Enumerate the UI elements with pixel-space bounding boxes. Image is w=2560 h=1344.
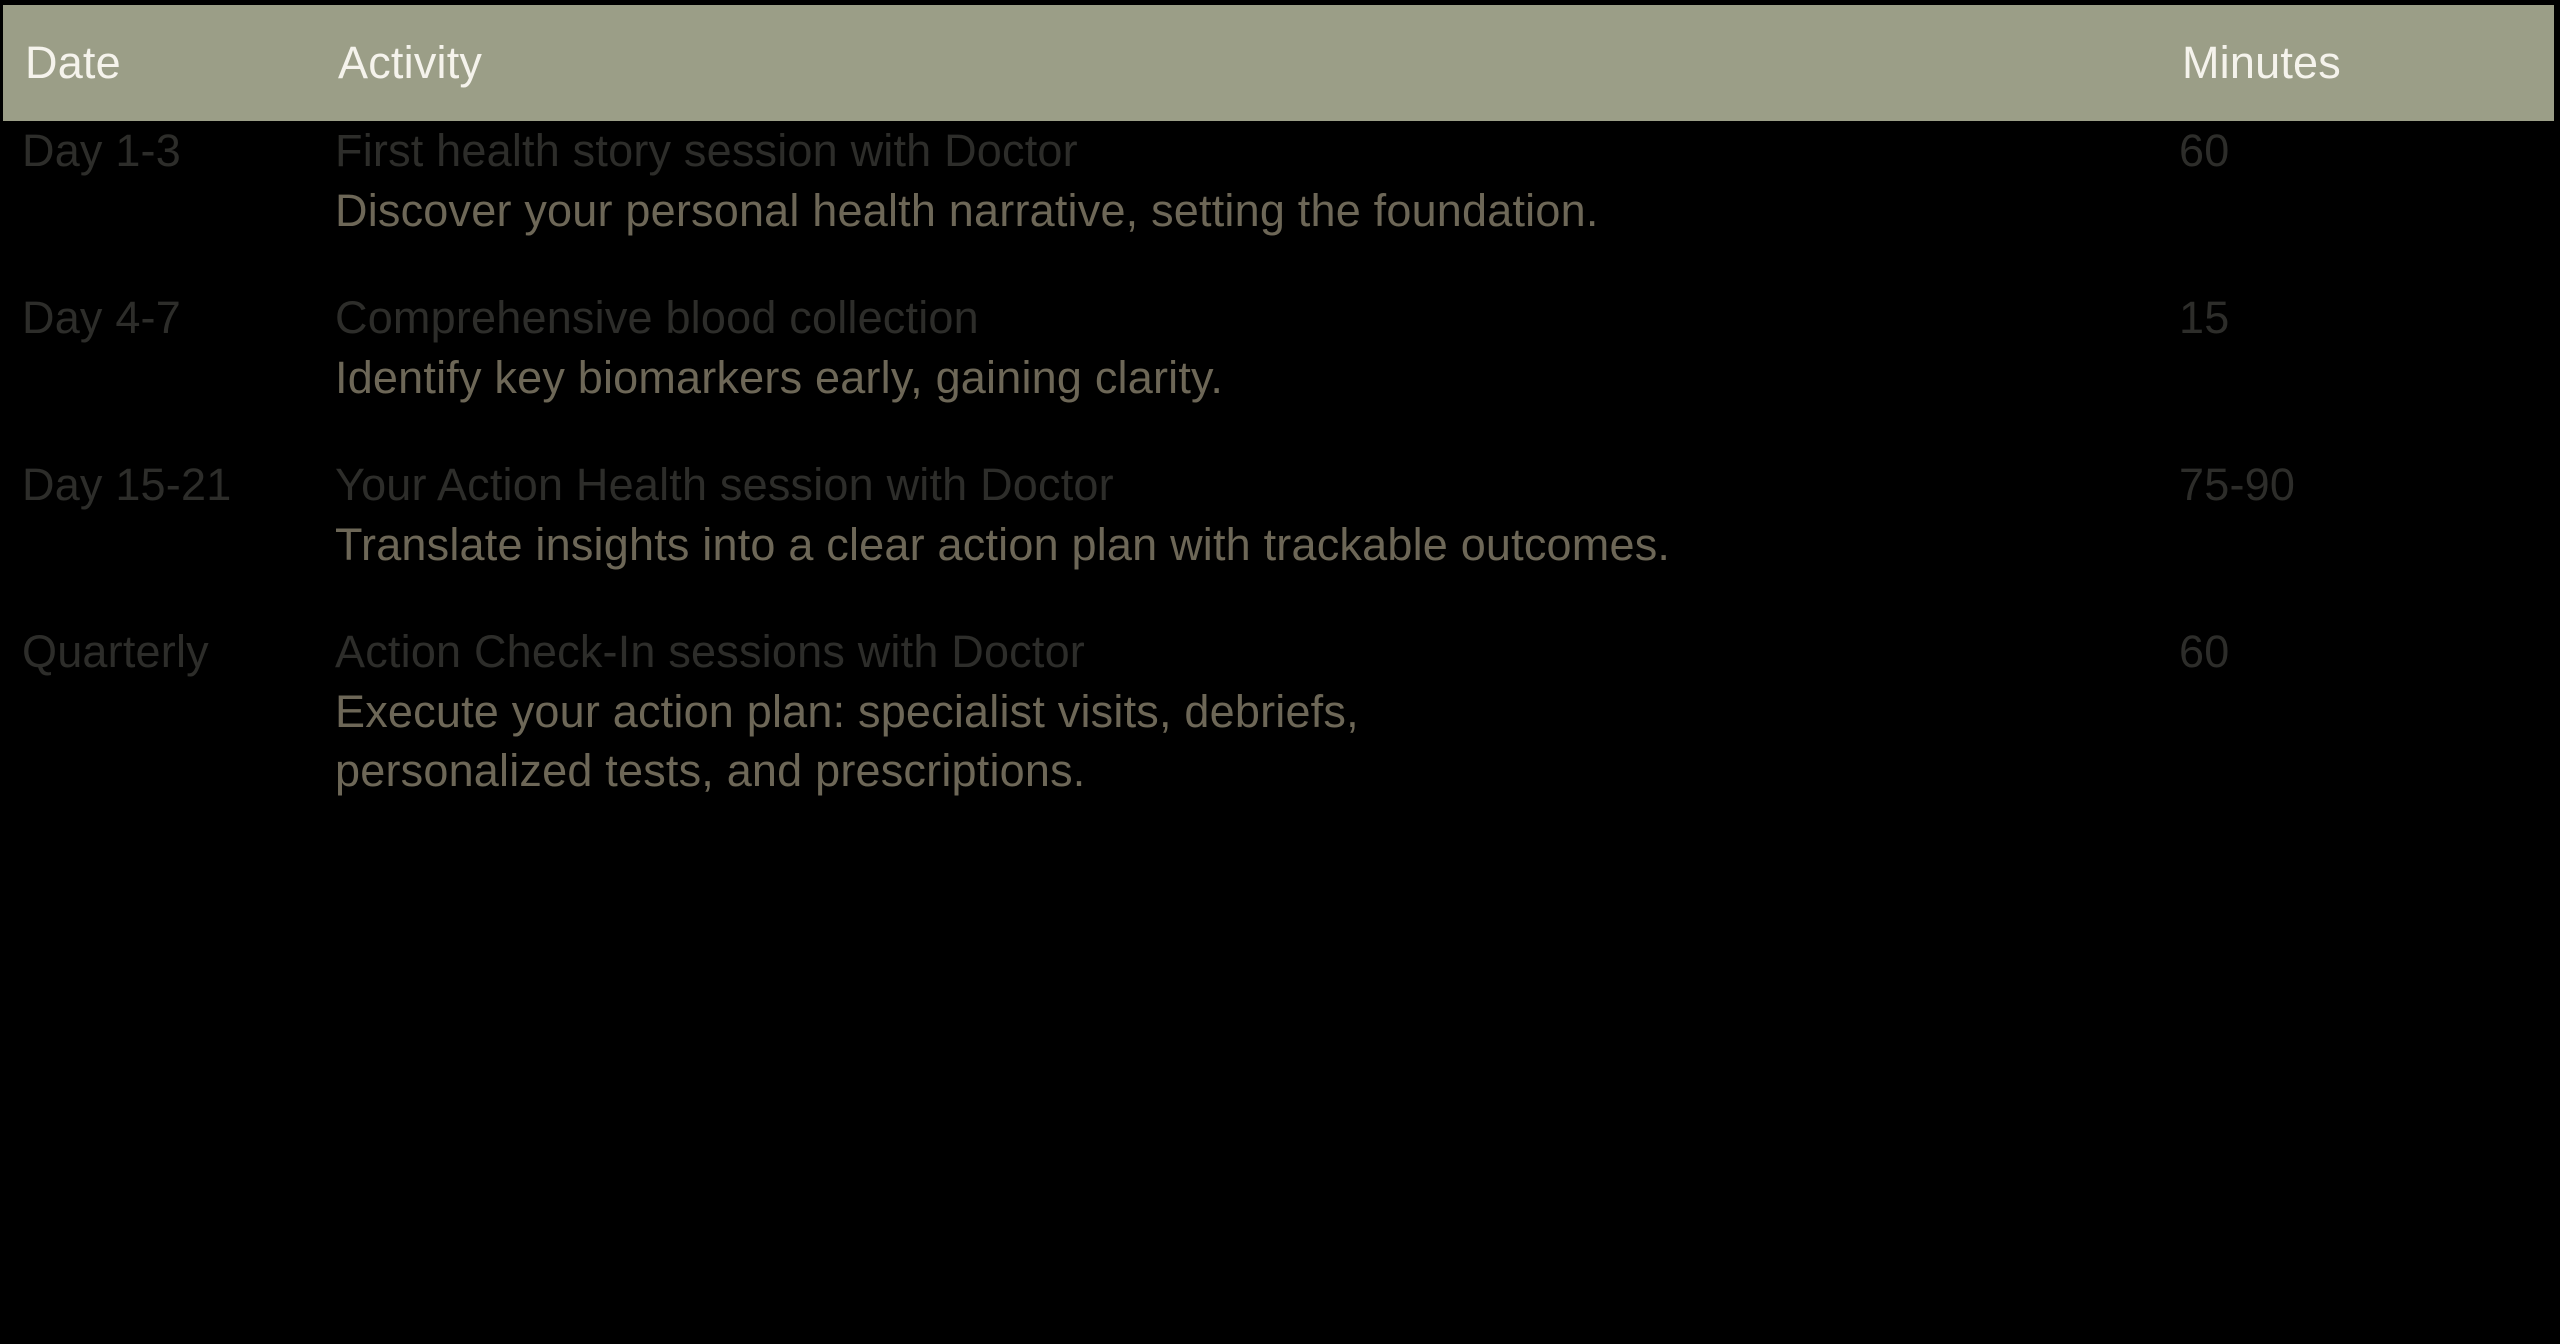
- table-body: Day 1-3 First health story session with …: [0, 121, 2560, 1344]
- activity-description-line: Identify key biomarkers early, gaining c…: [335, 348, 2135, 407]
- cell-activity: Your Action Health session with Doctor T…: [335, 455, 2135, 574]
- activity-description-line: Translate insights into a clear action p…: [335, 515, 2135, 574]
- cell-activity: Comprehensive blood collection Identify …: [335, 288, 2135, 407]
- activity-title: Action Check-In sessions with Doctor: [335, 622, 2135, 682]
- activity-title: Your Action Health session with Doctor: [335, 455, 2135, 515]
- cell-minutes: 75-90: [2179, 455, 2295, 515]
- cell-date: Day 1-3: [22, 121, 181, 181]
- column-header-activity[interactable]: Activity: [338, 5, 482, 121]
- cell-date: Day 4-7: [22, 288, 181, 348]
- table-row[interactable]: Quarterly Action Check-In sessions with …: [0, 622, 2560, 848]
- cell-minutes: 15: [2179, 288, 2229, 348]
- table-header-row: Date Activity Minutes: [3, 5, 2554, 121]
- activity-description-line: Execute your action plan: specialist vis…: [335, 682, 2135, 741]
- screen-root: Date Activity Minutes Day 1-3 First heal…: [0, 0, 2560, 1344]
- table-row[interactable]: Day 1-3 First health story session with …: [0, 121, 2560, 288]
- cell-activity: First health story session with Doctor D…: [335, 121, 2135, 240]
- cell-activity: Action Check-In sessions with Doctor Exe…: [335, 622, 2135, 800]
- table-row[interactable]: Day 15-21 Your Action Health session wit…: [0, 455, 2560, 622]
- cell-minutes: 60: [2179, 622, 2229, 682]
- activity-description-line: personalized tests, and prescriptions.: [335, 741, 2135, 800]
- activity-description-line: Discover your personal health narrative,…: [335, 181, 2135, 240]
- cell-minutes: 60: [2179, 121, 2229, 181]
- activity-title: First health story session with Doctor: [335, 121, 2135, 181]
- cell-date: Quarterly: [22, 622, 209, 682]
- column-header-minutes[interactable]: Minutes: [2182, 5, 2341, 121]
- column-header-date[interactable]: Date: [25, 5, 121, 121]
- cell-date: Day 15-21: [22, 455, 231, 515]
- activity-title: Comprehensive blood collection: [335, 288, 2135, 348]
- table-row[interactable]: Day 4-7 Comprehensive blood collection I…: [0, 288, 2560, 455]
